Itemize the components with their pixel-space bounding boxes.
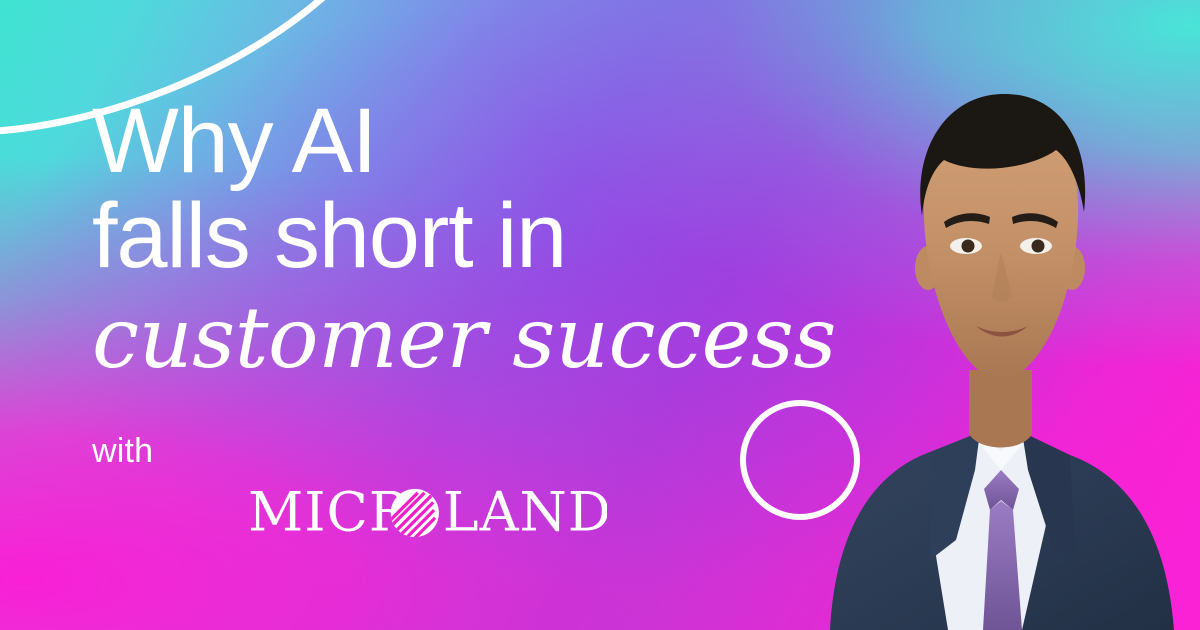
pupil-left — [962, 240, 975, 253]
wordmark-text-before: MICR — [248, 487, 411, 541]
pupil-right — [1032, 240, 1045, 253]
neck — [969, 370, 1032, 448]
microland-logo: MICR LAND — [248, 487, 607, 541]
presenter-portrait-image — [770, 0, 1200, 630]
microland-wordmark-icon: MICR LAND — [248, 487, 607, 541]
presenter-portrait — [770, 0, 1200, 630]
social-promo-card: Why AI falls short in customer success w… — [0, 0, 1200, 630]
wordmark-text-after: LAND — [443, 487, 607, 541]
